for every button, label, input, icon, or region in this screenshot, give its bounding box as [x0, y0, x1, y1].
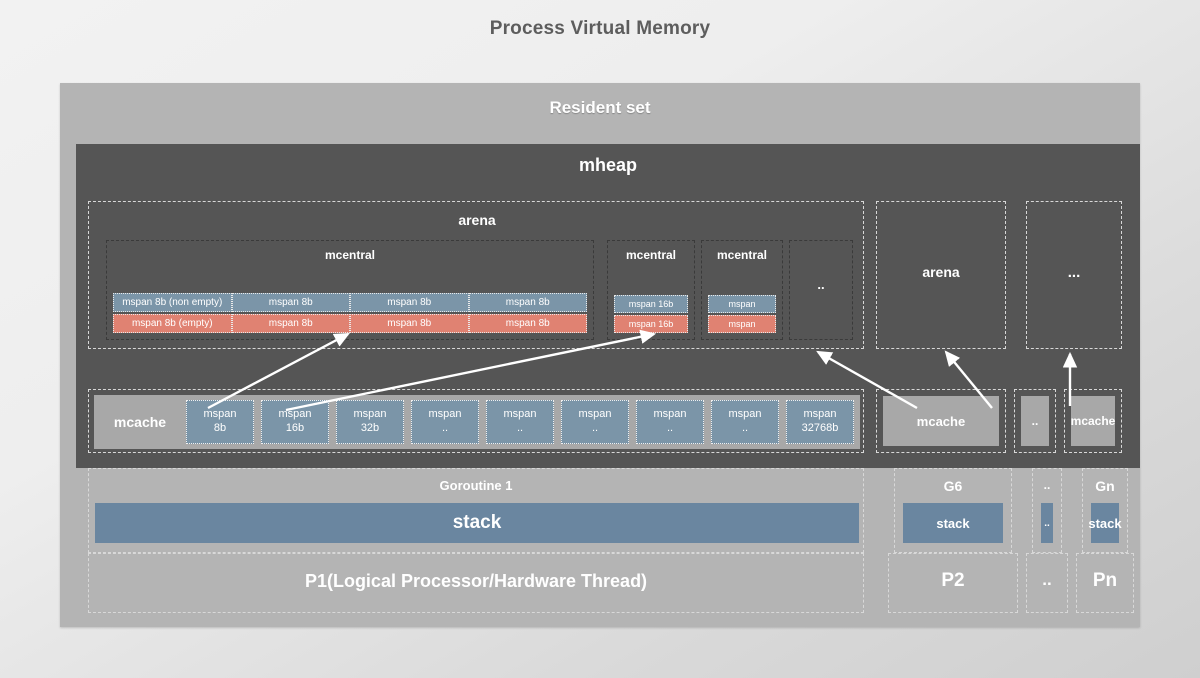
goroutine-1-box: Goroutine 1 stack: [88, 468, 864, 553]
mcache-pn-container: mcache: [1064, 389, 1122, 453]
mspan-8b-non-empty-3[interactable]: mspan 8b: [350, 293, 469, 312]
mspan-8b-non-empty-2[interactable]: mspan 8b: [232, 293, 351, 312]
mspan-8b-empty-1[interactable]: mspan 8b (empty): [113, 314, 232, 333]
mspan-8b-empty-2[interactable]: mspan 8b: [232, 314, 351, 333]
mcache-span-7[interactable]: mspan ..: [636, 400, 704, 444]
mcache-span-8b-line2: 8b: [187, 422, 253, 436]
mcentral-16b: mcentral mspan 16b mspan 16b: [607, 240, 695, 340]
processor-pn-box: Pn: [1076, 553, 1134, 613]
mcache-span-list: mspan 8b mspan 16b mspan 32b mspan ..: [186, 400, 860, 444]
processor-dots-column: .. .. ..: [1026, 468, 1068, 613]
goroutine-gn-stack[interactable]: stack: [1091, 503, 1119, 543]
mcentral-ellipsis-label: ..: [790, 277, 852, 292]
arena-2: arena: [876, 201, 1006, 349]
processor-pn-label: Pn: [1077, 570, 1133, 592]
goroutine-dots-box: .. ..: [1032, 468, 1062, 553]
mspan-row-non-empty: mspan: [708, 295, 776, 313]
goroutine-g6-stack[interactable]: stack: [903, 503, 1003, 543]
mcache-span-8[interactable]: mspan ..: [711, 400, 779, 444]
mspan-8b-non-empty-4[interactable]: mspan 8b: [469, 293, 588, 312]
goroutine-1-stack[interactable]: stack: [95, 503, 859, 543]
mcache-span-5[interactable]: mspan ..: [486, 400, 554, 444]
mspan-8b-non-empty-1[interactable]: mspan 8b (non empty): [113, 293, 232, 312]
mspan-generic-empty[interactable]: mspan: [708, 315, 776, 333]
mcache-p2-container: mcache: [876, 389, 1006, 453]
mcache-span-8b[interactable]: mspan 8b: [186, 400, 254, 444]
mcentral-16b-title: mcentral: [608, 248, 694, 262]
mcache-pn[interactable]: mcache: [1071, 396, 1115, 446]
arena-n: ...: [1026, 201, 1122, 349]
mcache-span-32b-line2: 32b: [337, 422, 403, 436]
mcache-span-4[interactable]: mspan ..: [411, 400, 479, 444]
mcache-span-6-line2: ..: [562, 422, 628, 436]
mcache-span-8-line2: ..: [712, 422, 778, 436]
processor-n-column: Gn stack Pn: [1076, 468, 1134, 613]
resident-set-title: Resident set: [60, 98, 1140, 118]
mcache-span-32768b[interactable]: mspan 32768b: [786, 400, 854, 444]
goroutine-gn-box: Gn stack: [1082, 468, 1128, 553]
goroutine-1-label: Goroutine 1: [89, 478, 863, 493]
mcache-span-4-line1: mspan: [428, 408, 461, 420]
mcache-span-8b-line1: mspan: [203, 408, 236, 420]
mspan-8b-empty-3[interactable]: mspan 8b: [350, 314, 469, 333]
mcache-span-7-line1: mspan: [653, 408, 686, 420]
resident-set-container: Resident set mheap arena mcentral mspan …: [60, 83, 1140, 627]
mcache-span-7-line2: ..: [637, 422, 703, 436]
mheap-container: mheap arena mcentral mspan 8b (non empty…: [76, 144, 1140, 468]
processor-dots-label: ..: [1027, 570, 1067, 590]
mcache-span-32b[interactable]: mspan 32b: [336, 400, 404, 444]
mcache-dots[interactable]: ..: [1021, 396, 1049, 446]
mcache-span-32768b-line1: mspan: [803, 408, 836, 420]
mspan-8b-empty-4[interactable]: mspan 8b: [469, 314, 588, 333]
mcache-span-16b[interactable]: mspan 16b: [261, 400, 329, 444]
mheap-title: mheap: [76, 155, 1140, 176]
mcache-span-6-line1: mspan: [578, 408, 611, 420]
arena-2-title: arena: [877, 264, 1005, 280]
mcache-main: mcache mspan 8b mspan 16b mspan 32b: [94, 395, 860, 449]
mcentral-generic-title: mcentral: [702, 248, 782, 262]
processor-2-column: G6 stack P2: [888, 468, 1018, 613]
goroutine-dots-label: ..: [1033, 478, 1061, 492]
mcentral-ellipsis-box: ..: [789, 240, 853, 340]
arena-n-title: ...: [1027, 264, 1121, 281]
mcache-span-32768b-line2: 32768b: [787, 422, 853, 436]
mspan-row-non-empty: mspan 16b: [614, 295, 688, 313]
goroutine-g6-label: G6: [895, 478, 1011, 494]
mcentral-generic: mcentral mspan mspan: [701, 240, 783, 340]
page-title: Process Virtual Memory: [0, 18, 1200, 40]
mcache-span-16b-line1: mspan: [278, 408, 311, 420]
mcache-dots-container: ..: [1014, 389, 1056, 453]
processor-1-label: P1(Logical Processor/Hardware Thread): [89, 571, 863, 592]
arena-main-title: arena: [89, 212, 865, 228]
mspan-row-empty: mspan: [708, 315, 776, 333]
mspan-generic-non-empty[interactable]: mspan: [708, 295, 776, 313]
processor-dots-box: ..: [1026, 553, 1068, 613]
mcache-span-16b-line2: 16b: [262, 422, 328, 436]
goroutine-gn-label: Gn: [1083, 478, 1127, 494]
goroutine-processor-area: Goroutine 1 stack P1(Logical Processor/H…: [88, 468, 1140, 618]
arena-main: arena mcentral mspan 8b (non empty) mspa…: [88, 201, 864, 349]
mcache-span-4-line2: ..: [412, 422, 478, 436]
mcentral-generic-rows: mspan mspan: [702, 295, 782, 333]
processor-1-box: P1(Logical Processor/Hardware Thread): [88, 553, 864, 613]
mcache-span-5-line2: ..: [487, 422, 553, 436]
mspan-row-empty: mspan 16b: [614, 315, 688, 333]
mspan-16b-non-empty[interactable]: mspan 16b: [614, 295, 688, 313]
mcentral-8b-rows: mspan 8b (non empty) mspan 8b mspan 8b m…: [107, 293, 593, 333]
processor-p2-label: P2: [889, 570, 1017, 592]
mcentral-8b-title: mcentral: [107, 248, 593, 262]
mspan-row-empty: mspan 8b (empty) mspan 8b mspan 8b mspan…: [113, 314, 587, 333]
mcache-span-32b-line1: mspan: [353, 408, 386, 420]
mcache-p2[interactable]: mcache: [883, 396, 999, 446]
mcache-main-container: mcache mspan 8b mspan 16b mspan 32b: [88, 389, 864, 453]
mcentral-16b-rows: mspan 16b mspan 16b: [608, 295, 694, 333]
mcentral-8b-group: mcentral mspan 8b (non empty) mspan 8b m…: [106, 240, 594, 340]
mcache-span-6[interactable]: mspan ..: [561, 400, 629, 444]
mspan-16b-empty[interactable]: mspan 16b: [614, 315, 688, 333]
processor-p2-box: P2: [888, 553, 1018, 613]
goroutine-dots-stack[interactable]: ..: [1041, 503, 1053, 543]
mspan-row-non-empty: mspan 8b (non empty) mspan 8b mspan 8b m…: [113, 293, 587, 312]
mcache-main-label: mcache: [94, 414, 186, 430]
mcache-span-8-line1: mspan: [728, 408, 761, 420]
goroutine-g6-box: G6 stack: [894, 468, 1012, 553]
mcache-span-5-line1: mspan: [503, 408, 536, 420]
